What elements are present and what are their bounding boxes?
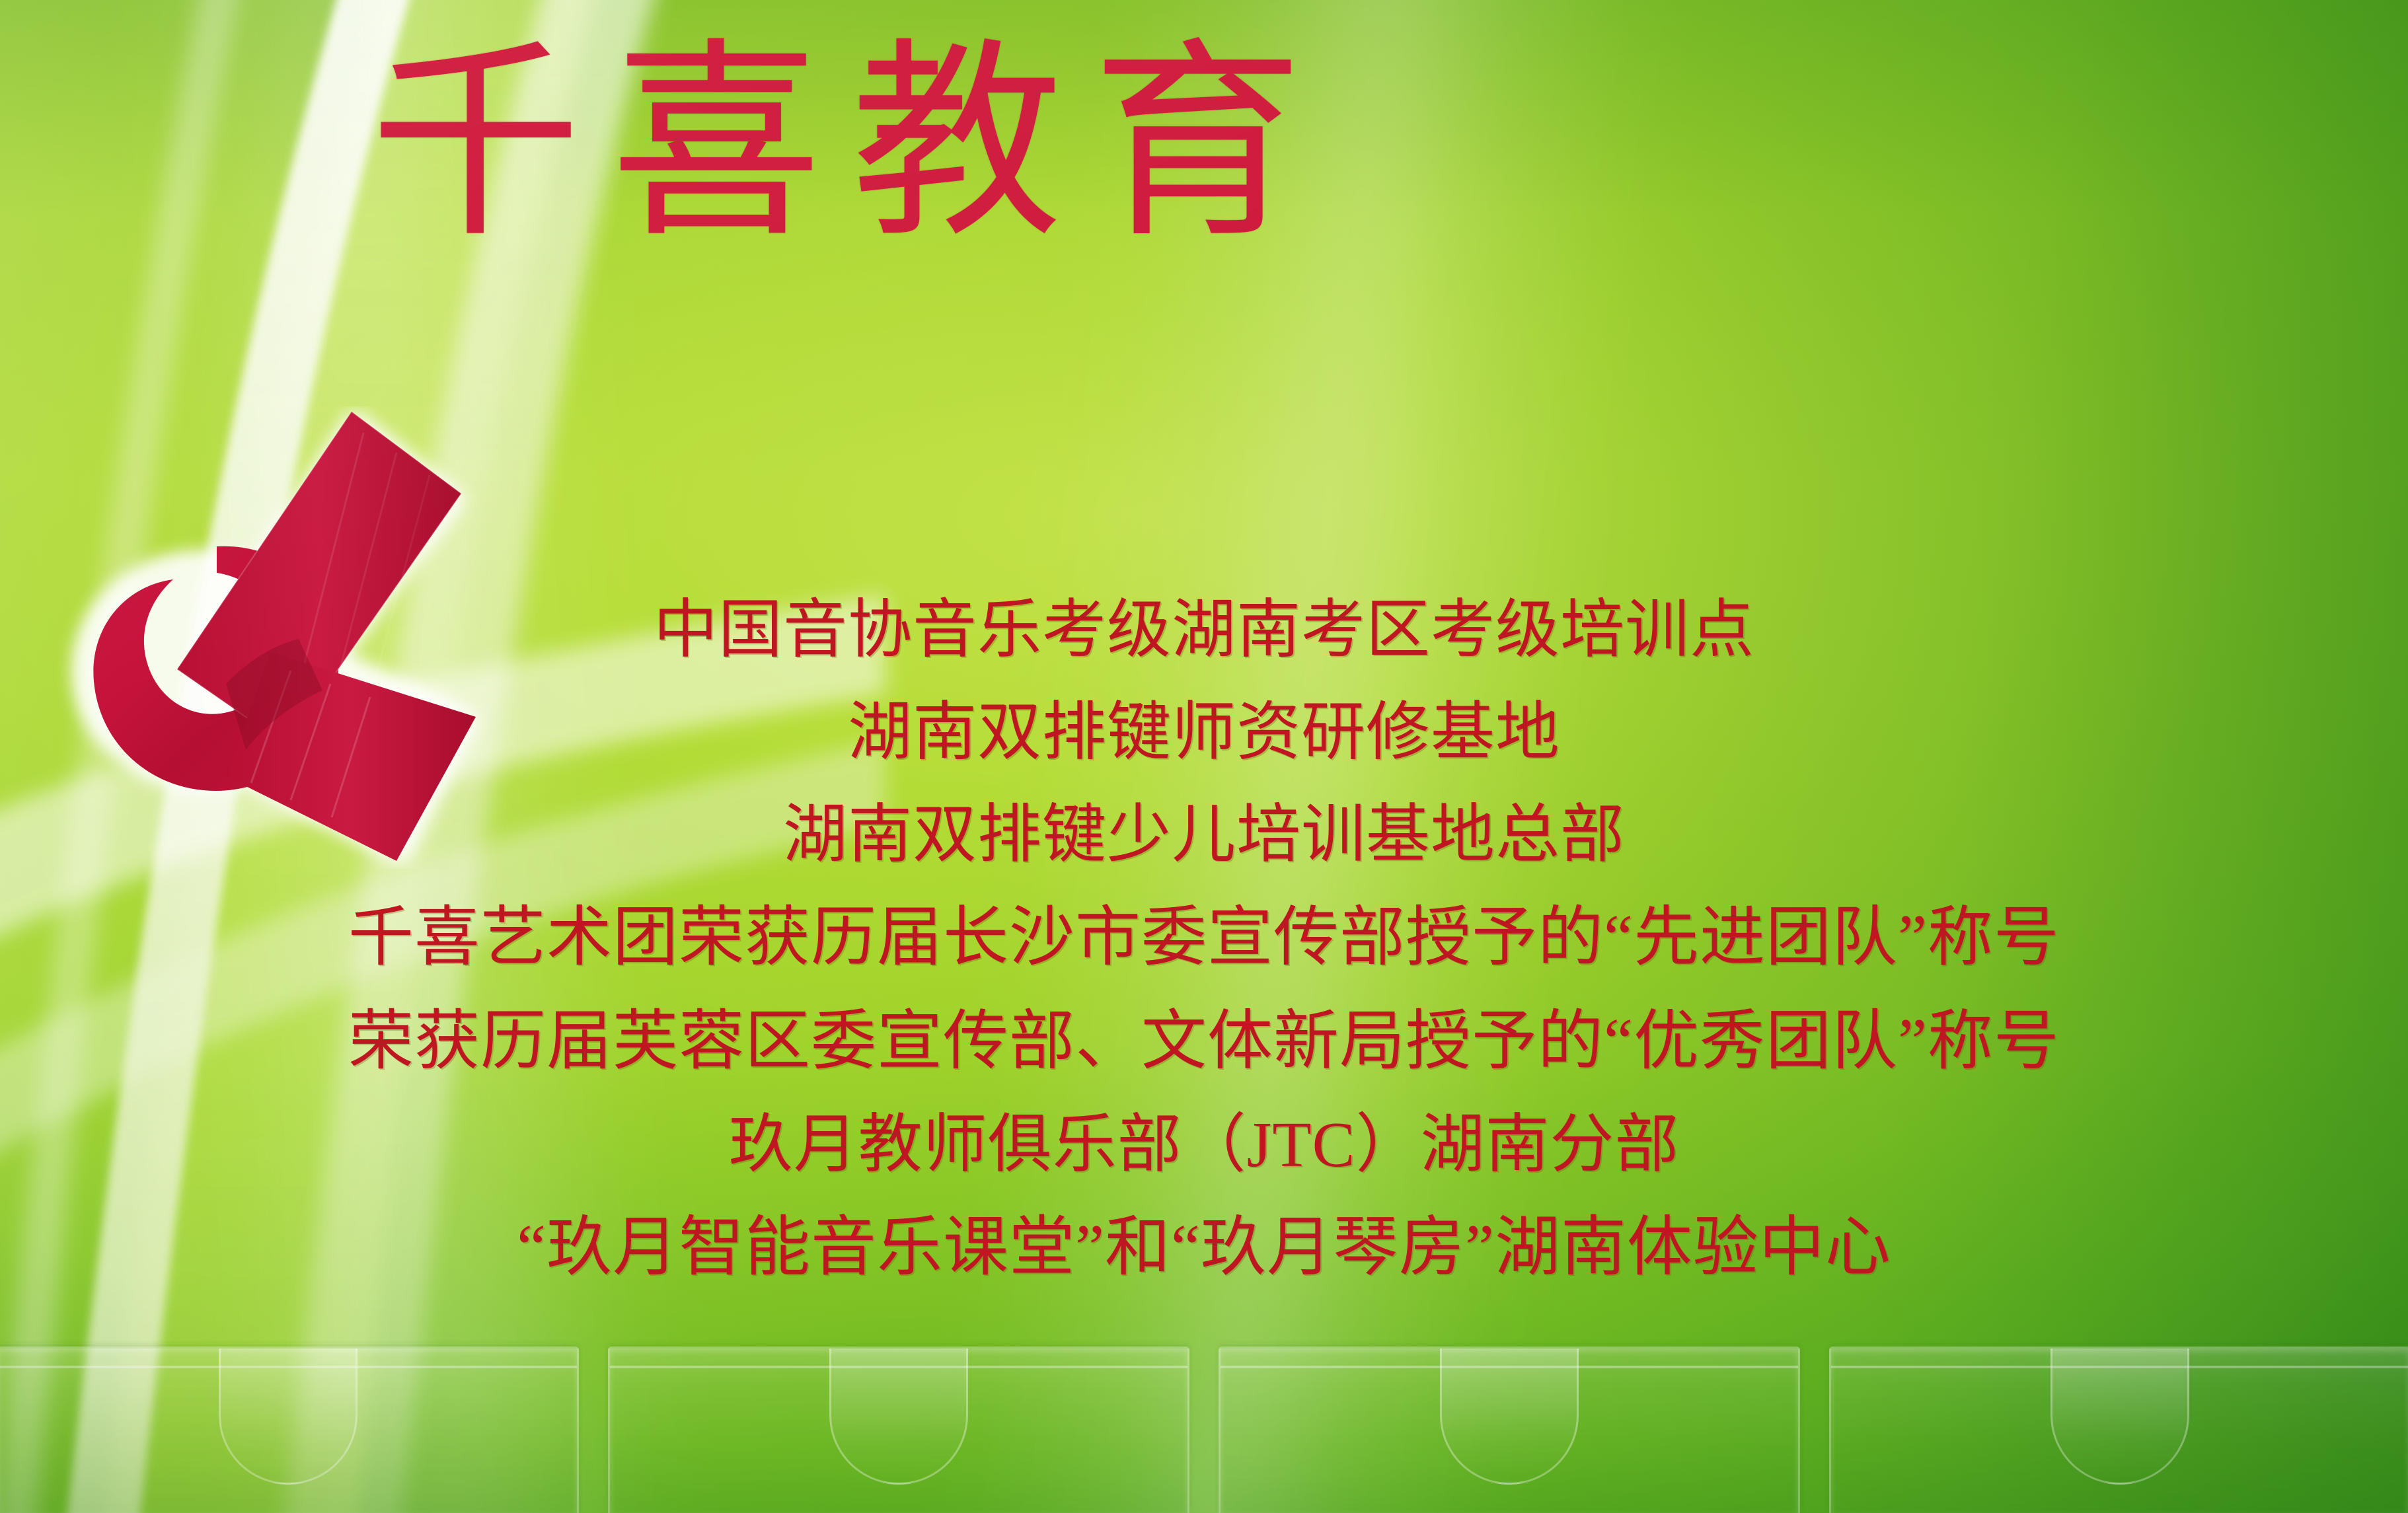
photo-vignette — [0, 0, 2408, 1513]
wall-signage-board: 千喜教育 中国音协音乐考级湖南考区考级培训点 湖南双排键师资研修基地 湖南双排键… — [0, 0, 2408, 1513]
